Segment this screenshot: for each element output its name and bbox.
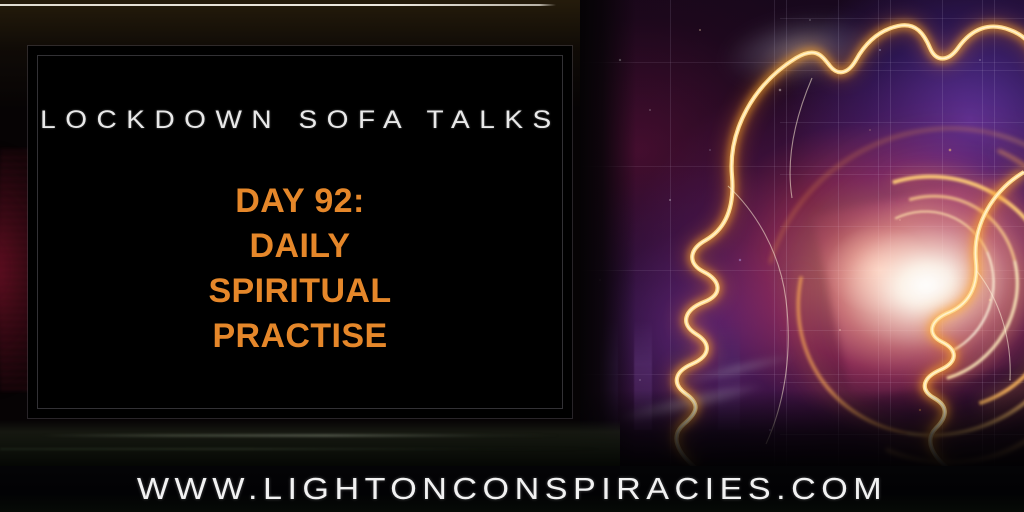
artwork-bottom-fade (580, 390, 1024, 470)
slide-canvas: LOCKDOWN SOFA TALKS DAY 92: DAILY SPIRIT… (0, 0, 1024, 512)
series-title: LOCKDOWN SOFA TALKS (40, 106, 561, 135)
episode-headline: DAY 92: DAILY SPIRITUAL PRACTISE (208, 179, 391, 359)
shelf-highlight-secondary (0, 448, 600, 450)
cosmic-artwork (580, 0, 1024, 470)
headline-line-4: PRACTISE (208, 314, 391, 359)
shelf-reflection (0, 420, 620, 466)
shelf-highlight (40, 434, 560, 437)
website-url: WWW.LIGHTONCONSPIRACIES.COM (0, 466, 1024, 512)
headline-line-3: SPIRITUAL (208, 269, 391, 314)
slide-panel-inner-frame: LOCKDOWN SOFA TALKS DAY 92: DAILY SPIRIT… (38, 56, 562, 408)
slide-panel-content: LOCKDOWN SOFA TALKS DAY 92: DAILY SPIRIT… (38, 56, 562, 408)
headline-line-1: DAY 92: (208, 179, 391, 224)
top-divider-line (0, 4, 556, 6)
headline-line-2: DAILY (208, 224, 391, 269)
slide-panel: LOCKDOWN SOFA TALKS DAY 92: DAILY SPIRIT… (28, 46, 572, 418)
